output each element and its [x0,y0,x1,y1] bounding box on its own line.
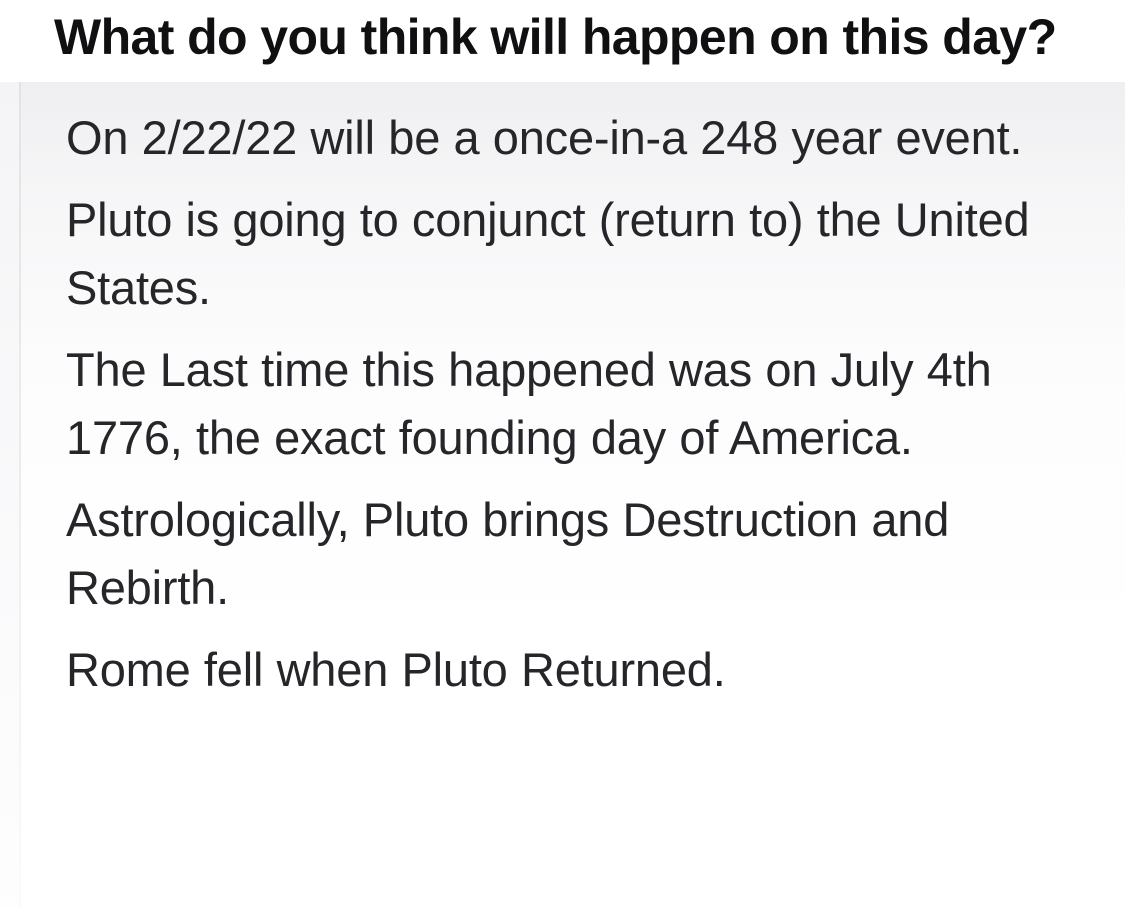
post-paragraph: The Last time this happened was on July … [66,336,1056,472]
screenshot-root: What do you think will happen on this da… [0,0,1125,907]
panel-left-divider [19,82,21,907]
header-bar: What do you think will happen on this da… [0,0,1125,82]
post-content-panel: On 2/22/22 will be a once-in-a 248 year … [0,82,1125,907]
post-paragraph: Rome fell when Pluto Returned. [66,636,1056,704]
post-paragraph: Astrologically, Pluto brings Destruction… [66,486,1056,622]
post-body: On 2/22/22 will be a once-in-a 248 year … [66,104,1056,704]
post-paragraph: On 2/22/22 will be a once-in-a 248 year … [66,104,1056,172]
page-title: What do you think will happen on this da… [54,6,1057,68]
post-paragraph: Pluto is going to conjunct (return to) t… [66,186,1056,322]
panel-left-gutter [0,82,19,907]
